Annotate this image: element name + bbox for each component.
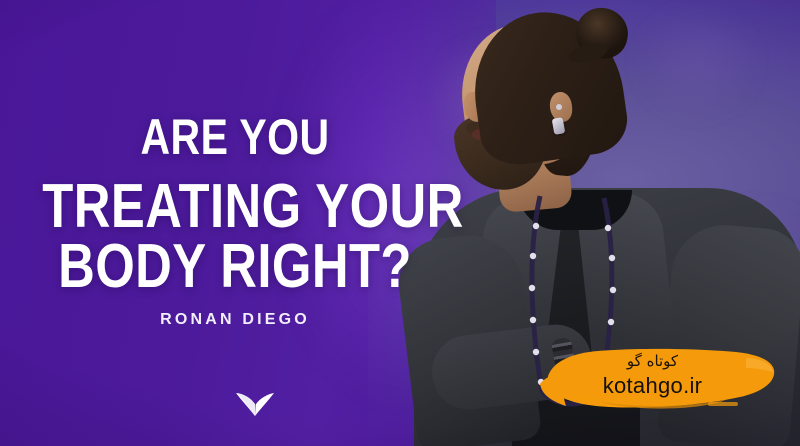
mindvalley-wings-logo (235, 391, 275, 417)
title-line-1: ARE YOU (42, 112, 427, 162)
title-block: ARE YOU TREATING YOUR BODY RIGHT? RONAN … (0, 0, 470, 446)
wings-icon (235, 391, 275, 417)
speaker-name-label: RONAN DIEGO (0, 311, 470, 329)
watermark-persian-text: کوتاه گو (540, 352, 765, 370)
video-frame: ARE YOU TREATING YOUR BODY RIGHT? RONAN … (0, 0, 800, 446)
title-line-3: BODY RIGHT? (42, 236, 427, 298)
watermark-badge[interactable]: کوتاه گو kotahgo.ir (540, 340, 800, 418)
title-line-2: TREATING YOUR (42, 176, 427, 238)
watermark-domain-text: kotahgo.ir (540, 373, 765, 399)
